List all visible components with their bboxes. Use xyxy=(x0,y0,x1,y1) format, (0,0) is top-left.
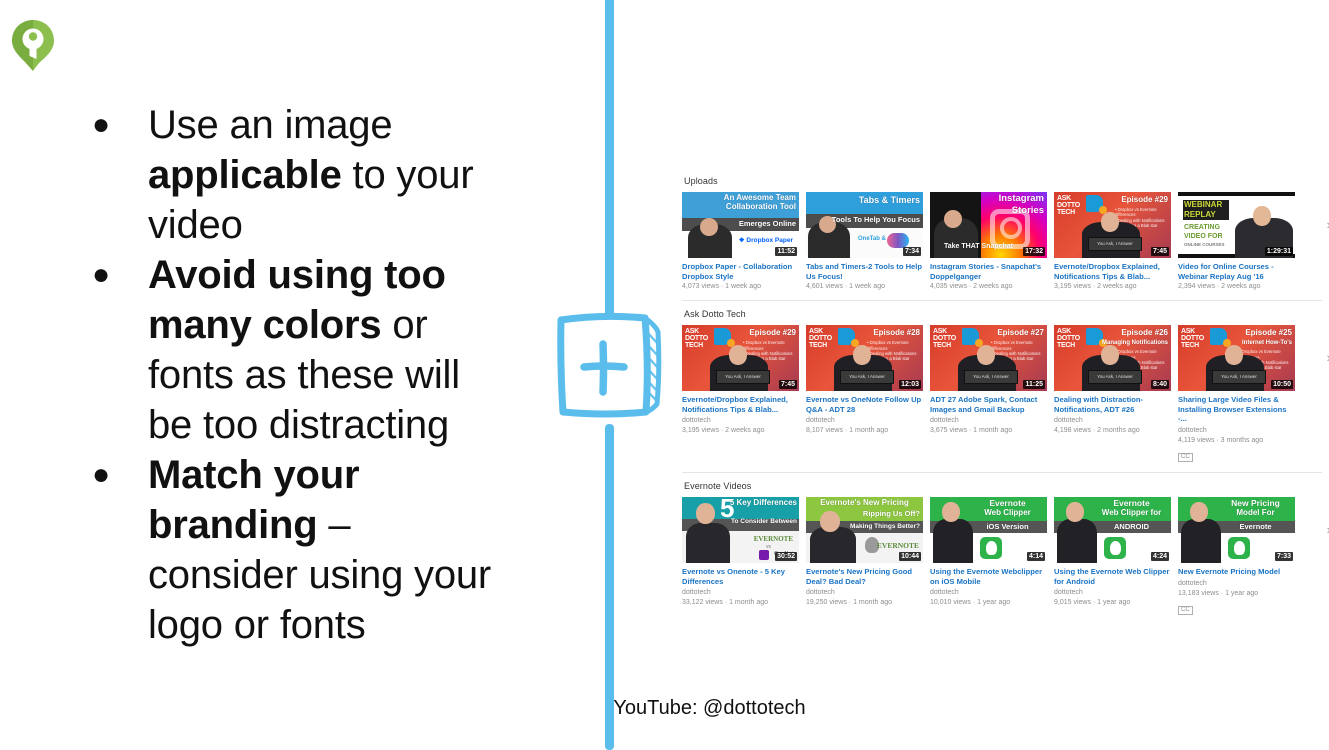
video-thumbnail[interactable]: EvernoteWeb Clipper forANDROID4:24 xyxy=(1054,497,1171,563)
video-channel[interactable]: dottotech xyxy=(930,588,1047,597)
video-meta: 4,035 views · 2 weeks ago xyxy=(930,282,1047,291)
adt-logo: ASKDOTTOTECH xyxy=(1057,328,1080,349)
video-meta: 9,015 views · 1 year ago xyxy=(1054,598,1171,607)
presenter-head xyxy=(1253,206,1271,226)
video-duration: 4:24 xyxy=(1151,552,1169,561)
video-thumbnail[interactable]: ASKDOTTOTECHEpisode #27• Dropbox vs Ever… xyxy=(930,325,1047,391)
video-title[interactable]: Evernote's New Pricing Good Deal? Bad De… xyxy=(806,567,923,586)
video-card[interactable]: ASKDOTTOTECHEpisode #27• Dropbox vs Ever… xyxy=(930,325,1047,463)
section-title: Evernote Videos xyxy=(684,481,1322,491)
thumb-badge: Take THAT Snapchat xyxy=(944,243,1013,250)
video-channel[interactable]: dottotech xyxy=(682,416,799,425)
thumb-caption: Evernote xyxy=(970,498,1045,508)
closed-caption-badge: CC xyxy=(1178,453,1193,462)
video-meta: 10,010 views · 1 year ago xyxy=(930,598,1047,607)
video-meta: 19,250 views · 1 month ago xyxy=(806,598,923,607)
location-pin-icon xyxy=(8,16,58,76)
video-channel[interactable]: dottotech xyxy=(682,588,799,597)
video-title[interactable]: Using the Evernote Web Clipper for Andro… xyxy=(1054,567,1171,586)
video-title[interactable]: Dropbox Paper - Collaboration Dropbox St… xyxy=(682,262,799,281)
presenter-head xyxy=(977,345,995,365)
thumb-caption: New Pricing xyxy=(1218,498,1293,508)
video-thumbnail[interactable]: ASKDOTTOTECHEpisode #28• Dropbox vs Ever… xyxy=(806,325,923,391)
video-meta: 4,073 views · 1 week ago xyxy=(682,282,799,291)
video-title[interactable]: Evernote/Dropbox Explained, Notification… xyxy=(1054,262,1171,281)
video-thumbnail[interactable]: 55 Key DifferencesTo Consider BetweenEVE… xyxy=(682,497,799,563)
sign-prop: You Ask, I Answer xyxy=(1088,237,1142,251)
video-duration: 10:50 xyxy=(1271,380,1293,389)
evernote-elephant-icon xyxy=(1234,541,1245,555)
thumb-caption: 5 Key Differences xyxy=(730,498,797,507)
video-card[interactable]: Evernote's New PricingRipping Us Off?Mak… xyxy=(806,497,923,616)
section-divider xyxy=(682,472,1322,473)
video-thumbnail[interactable]: EvernoteWeb ClipperiOS Version4:14 xyxy=(930,497,1047,563)
evernote-elephant-icon xyxy=(986,541,997,555)
brand-logo xyxy=(8,16,58,76)
video-thumbnail[interactable]: New PricingModel ForEvernote7:33 xyxy=(1178,497,1295,563)
thumb-caption: Tools To Help You Focus xyxy=(832,215,920,225)
video-section: Evernote Videos55 Key DifferencesTo Cons… xyxy=(682,481,1322,616)
video-title[interactable]: Instagram Stories - Snapchat's Doppelgan… xyxy=(930,262,1047,281)
video-meta: 4,601 views · 1 week ago xyxy=(806,282,923,291)
presenter-head xyxy=(729,345,747,365)
sign-prop: You Ask, I Answer xyxy=(964,370,1018,384)
thumb-caption: Tabs & Timers xyxy=(859,195,920,205)
video-duration: 4:14 xyxy=(1027,552,1045,561)
presenter-head xyxy=(700,218,718,236)
video-title[interactable]: Evernote vs OneNote Follow Up Q&A - ADT … xyxy=(806,395,923,414)
presenter-head xyxy=(1101,345,1119,365)
presenter-silhouette xyxy=(686,523,730,563)
thumb-caption: Emerges Online xyxy=(739,219,796,228)
video-thumbnail[interactable]: ASKDOTTOTECHEpisode #29• Dropbox vs Ever… xyxy=(1054,192,1171,258)
thumb-badge: EVERNOTE xyxy=(877,541,919,550)
video-title[interactable]: New Evernote Pricing Model xyxy=(1178,567,1295,577)
presenter-head xyxy=(853,345,871,365)
video-meta: 4,198 views · 2 months ago xyxy=(1054,426,1171,435)
video-section: Ask Dotto TechASKDOTTOTECHEpisode #29• D… xyxy=(682,309,1322,463)
video-thumbnail[interactable]: ASKDOTTOTECHEpisode #29• Dropbox vs Ever… xyxy=(682,325,799,391)
video-duration: 30:52 xyxy=(775,552,797,561)
video-title[interactable]: Using the Evernote Webclipper on iOS Mob… xyxy=(930,567,1047,586)
thumb-subcaption: Making Things Better? xyxy=(850,522,920,531)
thumb-caption: Model For xyxy=(1218,508,1293,518)
thumb-subcaption: Internet How-To's xyxy=(1242,340,1292,347)
video-meta: 3,675 views · 1 month ago xyxy=(930,426,1047,435)
thumb-badge: ❖ Dropbox Paper xyxy=(739,236,793,244)
bullet-text: Match your branding – consider using you… xyxy=(148,450,498,650)
video-row: ASKDOTTOTECHEpisode #29• Dropbox vs Ever… xyxy=(682,325,1322,463)
thumb-caption: Evernote xyxy=(1094,498,1169,508)
presenter-silhouette xyxy=(933,519,973,563)
adt-logo: ASKDOTTOTECH xyxy=(685,328,708,349)
bullet-list: ●Use an image applicable to your video●A… xyxy=(78,100,498,650)
bullet-text: Use an image applicable to your video xyxy=(148,100,498,250)
video-thumbnail[interactable]: WEBINARREPLAYCREATINGVIDEO FORONLINE COU… xyxy=(1178,192,1295,258)
youtube-channel-panel[interactable]: UploadsAn Awesome TeamCollaboration Tool… xyxy=(682,176,1322,616)
adt-logo: ASKDOTTOTECH xyxy=(809,328,832,349)
video-meta: 8,107 views · 1 month ago xyxy=(806,426,923,435)
presenter-silhouette xyxy=(1057,519,1097,563)
video-channel[interactable]: dottotech xyxy=(1178,579,1295,588)
video-duration: 17:32 xyxy=(1023,247,1045,256)
thumb-caption: Ripping Us Off? xyxy=(863,509,920,518)
video-duration: 7:45 xyxy=(1151,247,1169,256)
bullet-text: Avoid using too many colors or fonts as … xyxy=(148,250,498,450)
video-card[interactable]: ASKDOTTOTECHEpisode #29• Dropbox vs Ever… xyxy=(682,325,799,463)
sign-prop: You Ask, I Answer xyxy=(1212,370,1266,384)
video-duration: 11:52 xyxy=(775,247,797,256)
footer-text: YouTube: @dottotech xyxy=(613,697,805,719)
presenter-head xyxy=(944,210,962,228)
video-duration: 8:40 xyxy=(1151,380,1169,389)
video-duration: 7:45 xyxy=(779,380,797,389)
video-card[interactable]: EvernoteWeb Clipper forANDROID4:24Using … xyxy=(1054,497,1171,616)
video-duration: 7:33 xyxy=(1275,552,1293,561)
video-card[interactable]: ASKDOTTOTECHEpisode #29• Dropbox vs Ever… xyxy=(1054,192,1171,291)
video-meta: 2,394 views · 2 weeks ago xyxy=(1178,282,1295,291)
video-card[interactable]: WEBINARREPLAYCREATINGVIDEO FORONLINE COU… xyxy=(1178,192,1295,291)
bullet-item: ●Avoid using too many colors or fonts as… xyxy=(78,250,498,450)
video-duration: 7:34 xyxy=(903,247,921,256)
presenter-head xyxy=(1190,502,1208,522)
thumb-caption: Episode #26 xyxy=(1121,328,1168,337)
video-meta: 3,195 views · 2 weeks ago xyxy=(1054,282,1171,291)
video-duration: 12:03 xyxy=(899,380,921,389)
bullet-emphasis: applicable xyxy=(148,153,342,197)
bullet-plain: Use an image xyxy=(148,103,392,147)
thumb-subcaption: CREATINGVIDEO FOR xyxy=(1184,224,1223,241)
thumb-logo-circle xyxy=(887,233,909,248)
hand-drawn-plus-box[interactable] xyxy=(548,306,672,424)
closed-caption-badge: CC xyxy=(1178,606,1193,615)
thumb-band xyxy=(1178,192,1295,196)
video-row: 55 Key DifferencesTo Consider BetweenEVE… xyxy=(682,497,1322,616)
presenter-head xyxy=(1101,212,1119,232)
video-meta: 33,122 views · 1 month ago xyxy=(682,598,799,607)
thumb-subcaption: iOS Version xyxy=(970,521,1045,532)
sign-prop: You Ask, I Answer xyxy=(716,370,770,384)
section-title: Uploads xyxy=(684,176,1322,186)
thumb-caption: Instagram xyxy=(999,193,1044,204)
bullet-marker-icon: ● xyxy=(78,450,148,500)
video-title[interactable]: Evernote vs Onenote - 5 Key Differences xyxy=(682,567,799,586)
video-duration: 10:44 xyxy=(899,552,921,561)
video-thumbnail[interactable]: ASKDOTTOTECHEpisode #25Internet How-To's… xyxy=(1178,325,1295,391)
video-channel[interactable]: dottotech xyxy=(1178,426,1295,435)
thumb-badge: OneTab & xyxy=(858,236,886,242)
video-duration: 11:25 xyxy=(1023,380,1045,389)
video-title[interactable]: ADT 27 Adobe Spark, Contact Images and G… xyxy=(930,395,1047,414)
thumb-subcaption: ONLINE COURSES xyxy=(1184,242,1225,247)
video-channel[interactable]: dottotech xyxy=(806,588,923,597)
bullet-marker-icon: ● xyxy=(78,100,148,150)
video-meta: 13,183 views · 1 year ago xyxy=(1178,589,1295,598)
video-title[interactable]: Evernote/Dropbox Explained, Notification… xyxy=(682,395,799,414)
sign-prop: You Ask, I Answer xyxy=(840,370,894,384)
video-card[interactable]: EvernoteWeb ClipperiOS Version4:14Using … xyxy=(930,497,1047,616)
video-card[interactable]: ASKDOTTOTECHEpisode #28• Dropbox vs Ever… xyxy=(806,325,923,463)
video-channel[interactable]: dottotech xyxy=(1054,588,1171,597)
video-card[interactable]: New PricingModel ForEvernote7:33New Ever… xyxy=(1178,497,1295,616)
video-thumbnail[interactable]: InstagramStoriesTake THAT Snapchat17:32 xyxy=(930,192,1047,258)
thumb-caption: Episode #27 xyxy=(997,328,1044,337)
thumb-caption: Web Clipper xyxy=(970,508,1045,518)
video-section: UploadsAn Awesome TeamCollaboration Tool… xyxy=(682,176,1322,291)
bullet-item: ●Match your branding – consider using yo… xyxy=(78,450,498,650)
video-meta: 3,195 views · 2 weeks ago xyxy=(682,426,799,435)
video-channel[interactable]: dottotech xyxy=(1054,416,1171,425)
presenter-head xyxy=(820,511,840,532)
instagram-glyph-inner xyxy=(1000,217,1022,239)
presenter-head xyxy=(1066,502,1084,522)
presenter-head xyxy=(1225,345,1243,365)
video-duration: 1:29:31 xyxy=(1265,247,1293,256)
video-thumbnail[interactable]: An Awesome TeamCollaboration ToolEmerges… xyxy=(682,192,799,258)
plus-box-icon xyxy=(548,306,672,424)
thumb-caption: WEBINARREPLAY xyxy=(1184,200,1222,220)
video-thumbnail[interactable]: Evernote's New PricingRipping Us Off?Mak… xyxy=(806,497,923,563)
video-channel[interactable]: dottotech xyxy=(930,416,1047,425)
sign-prop: You Ask, I Answer xyxy=(1088,370,1142,384)
video-title[interactable]: Video for Online Courses - Webinar Repla… xyxy=(1178,262,1295,281)
video-card[interactable]: ASKDOTTOTECHEpisode #26Managing Notifica… xyxy=(1054,325,1171,463)
video-card[interactable]: InstagramStoriesTake THAT Snapchat17:32I… xyxy=(930,192,1047,291)
presenter-silhouette xyxy=(810,527,856,563)
thumb-badge: EVERNOTE xyxy=(754,535,793,543)
video-card[interactable]: An Awesome TeamCollaboration ToolEmerges… xyxy=(682,192,799,291)
video-card[interactable]: Tabs & TimersTools To Help You FocusOneT… xyxy=(806,192,923,291)
thumb-caption: An Awesome TeamCollaboration Tool xyxy=(724,193,796,211)
divider-line-top xyxy=(605,0,614,318)
bullet-marker-icon: ● xyxy=(78,250,148,300)
thumb-caption: Episode #29 xyxy=(749,328,796,337)
thumb-caption: Episode #28 xyxy=(873,328,920,337)
video-card[interactable]: ASKDOTTOTECHEpisode #25Internet How-To's… xyxy=(1178,325,1295,463)
thumb-subcaption: ANDROID xyxy=(1094,521,1169,532)
video-thumbnail[interactable]: Tabs & TimersTools To Help You FocusOneT… xyxy=(806,192,923,258)
thumb-subcaption: Evernote xyxy=(1218,521,1293,532)
video-card[interactable]: 55 Key DifferencesTo Consider BetweenEVE… xyxy=(682,497,799,616)
video-meta: 4,119 views · 3 months ago xyxy=(1178,436,1295,445)
presenter-head xyxy=(696,503,715,524)
adt-logo: ASKDOTTOTECH xyxy=(933,328,956,349)
video-thumbnail[interactable]: ASKDOTTOTECHEpisode #26Managing Notifica… xyxy=(1054,325,1171,391)
video-title[interactable]: Dealing with Distraction-Notifications, … xyxy=(1054,395,1171,414)
section-divider xyxy=(682,300,1322,301)
bullet-item: ●Use an image applicable to your video xyxy=(78,100,498,250)
thumb-caption: Stories xyxy=(1012,205,1044,216)
onenote-mark xyxy=(759,550,769,560)
section-title: Ask Dotto Tech xyxy=(684,309,1322,319)
video-title[interactable]: Tabs and Timers-2 Tools to Help Us Focus… xyxy=(806,262,923,281)
thumb-caption: Evernote's New Pricing xyxy=(808,498,921,507)
thumb-caption: Web Clipper for xyxy=(1094,508,1169,518)
video-channel[interactable]: dottotech xyxy=(806,416,923,425)
footer-handle: YouTube: @dottotech xyxy=(0,697,1329,720)
evernote-elephant-icon xyxy=(1110,541,1121,555)
adt-logo: ASKDOTTOTECH xyxy=(1181,328,1204,349)
thumb-caption: Episode #25 xyxy=(1245,328,1292,337)
video-title[interactable]: Sharing Large Video Files & Installing B… xyxy=(1178,395,1295,424)
video-row: An Awesome TeamCollaboration ToolEmerges… xyxy=(682,192,1322,291)
presenter-silhouette xyxy=(1181,519,1221,563)
thumb-subcaption: To Consider Between xyxy=(731,517,797,526)
presenter-head xyxy=(942,502,960,522)
adt-logo: ASKDOTTOTECH xyxy=(1057,195,1080,216)
thumb-caption: Episode #29 xyxy=(1121,195,1168,204)
